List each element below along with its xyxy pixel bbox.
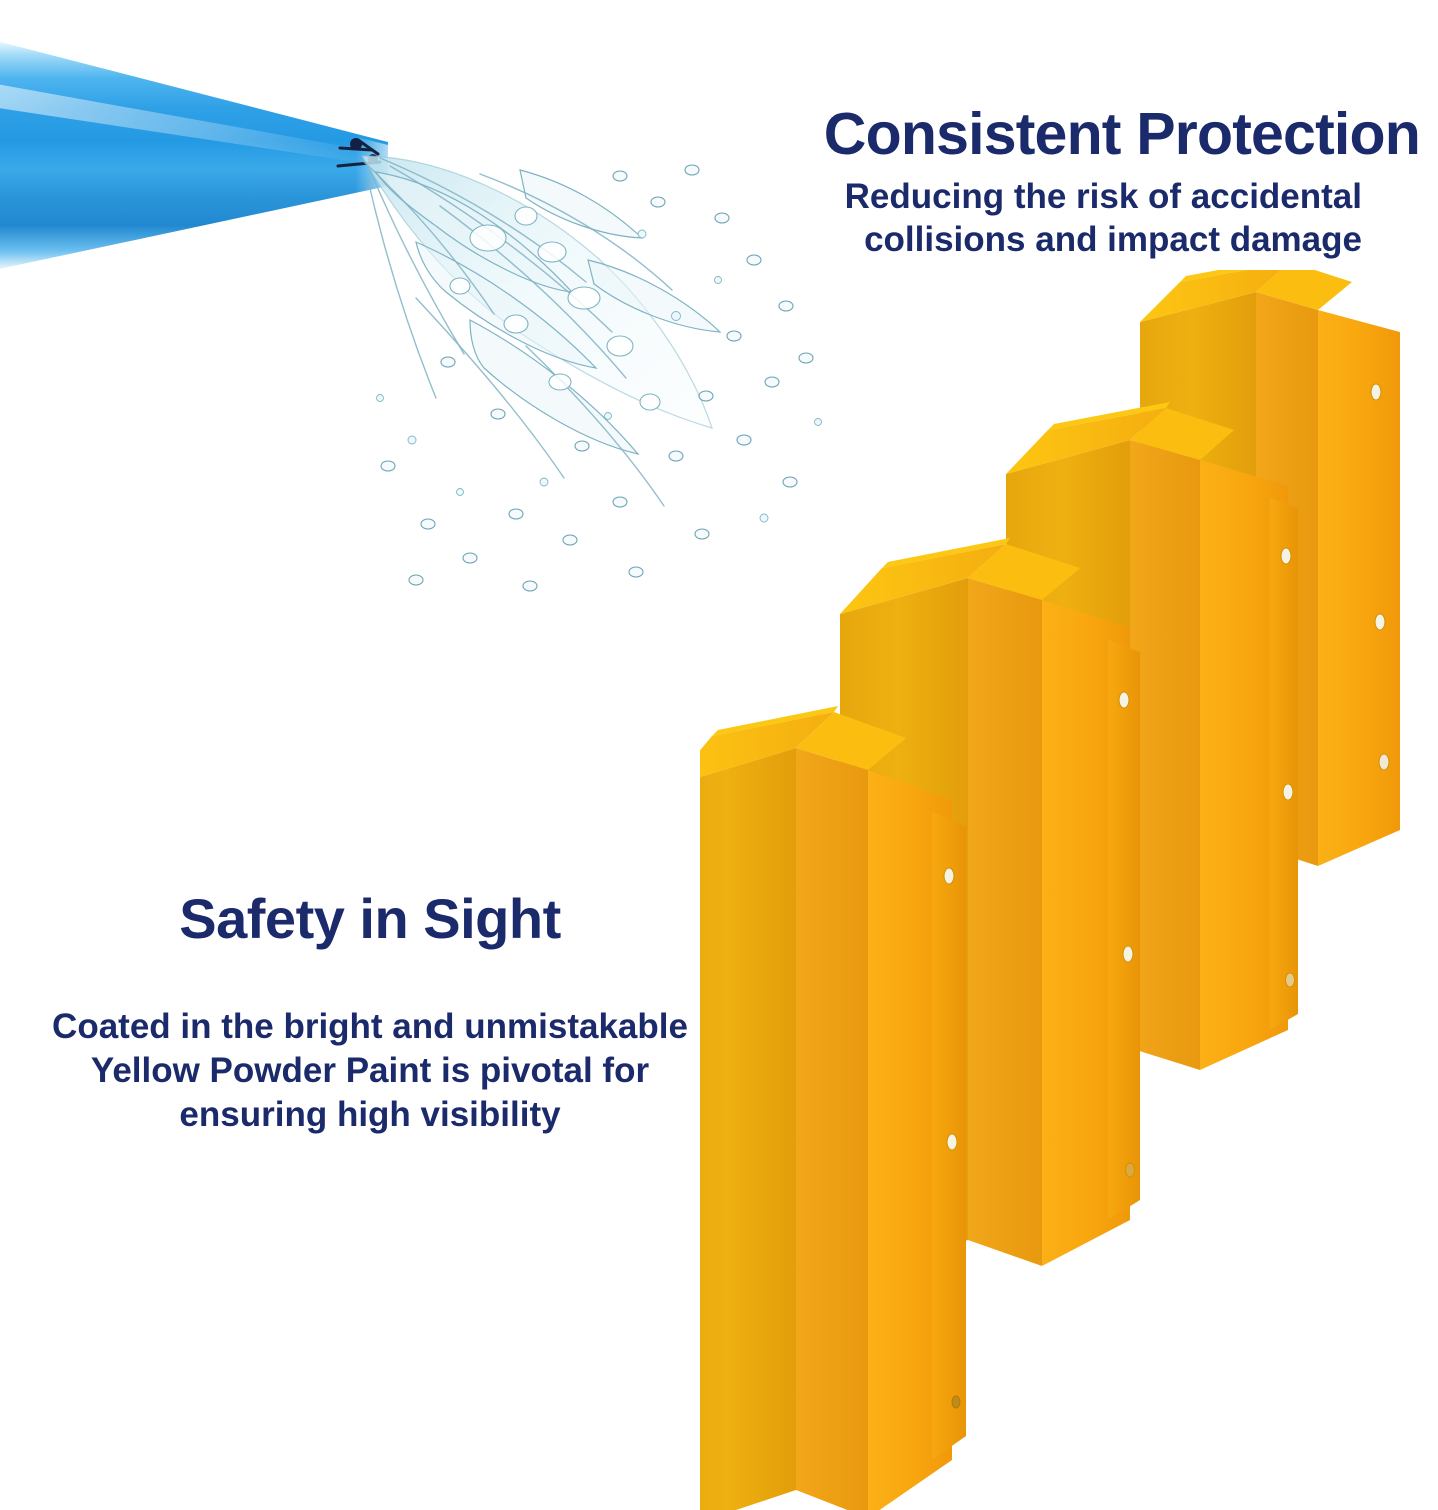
headline-subtitle: Reducing the risk of accidental collisio… <box>700 176 1420 261</box>
safety-title: Safety in Sight <box>0 890 740 949</box>
infographic-canvas: Consistent Protection Reducing the risk … <box>0 0 1438 1500</box>
safety-subtitle-line-3: ensuring high visibility <box>0 1093 740 1137</box>
safety-subtitle-line-1: Coated in the bright and unmistakable <box>0 1005 740 1049</box>
headline-subtitle-line-2: collisions and impact damage <box>700 219 1362 262</box>
safety-subtitle-line-2: Yellow Powder Paint is pivotal for <box>0 1049 740 1093</box>
yellow-column-guards <box>700 270 1438 1510</box>
headline-block: Consistent Protection Reducing the risk … <box>700 104 1420 262</box>
headline-title: Consistent Protection <box>700 104 1420 164</box>
safety-block: Safety in Sight Coated in the bright and… <box>0 890 740 1137</box>
safety-subtitle: Coated in the bright and unmistakable Ye… <box>0 1005 740 1137</box>
headline-subtitle-line-1: Reducing the risk of accidental <box>700 176 1362 219</box>
